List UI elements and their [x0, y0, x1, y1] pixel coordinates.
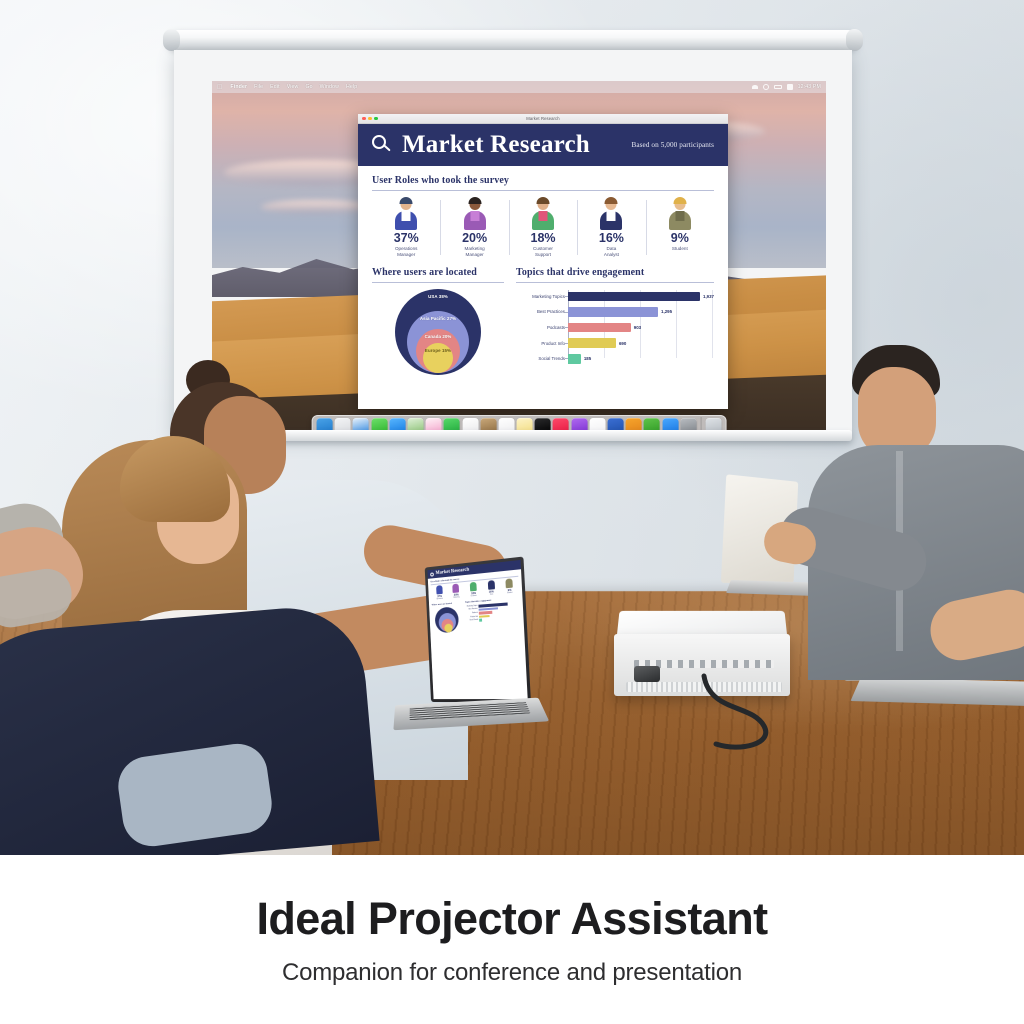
role-label: Student	[672, 246, 688, 252]
bar-category-label: Podcasts	[517, 325, 565, 330]
mirrored-slide: Market ResearchUser Roles who took the s…	[427, 560, 527, 699]
projector-lens	[634, 666, 660, 682]
role-label: CustomerSupport	[533, 246, 553, 258]
roles-row: 37%OperationsManager20%MarketingManager1…	[372, 197, 714, 258]
bar-category-label: Social Trends	[517, 356, 565, 361]
menubar-status-area: 12:43 PM	[752, 84, 821, 90]
bar-category-label: Best Practices	[517, 309, 565, 314]
avatar	[391, 197, 421, 230]
projector-cable	[700, 670, 820, 760]
battery-icon[interactable]	[774, 85, 782, 89]
role-percent: 37%	[394, 232, 419, 245]
screen-roller-bar	[168, 30, 858, 50]
role-card: 16%DataAnalyst	[577, 197, 645, 258]
bar-value-label: 903	[634, 325, 641, 330]
role-percent: 20%	[462, 232, 487, 245]
headline: Ideal Projector Assistant	[256, 893, 767, 945]
laptop-front[interactable]: Market ResearchUser Roles who took the s…	[395, 562, 530, 737]
topics-section-title: Topics that drive engagement	[516, 267, 714, 278]
menubar-item-view[interactable]: View	[287, 84, 299, 90]
location-divider	[372, 282, 504, 283]
wifi-icon[interactable]	[752, 85, 758, 89]
bar-category-label: Product Info	[517, 341, 565, 346]
location-panel: Where users are located USA 38% Asia Pac…	[372, 267, 504, 375]
search-icon[interactable]	[763, 84, 769, 90]
laptop-screen: Market ResearchUser Roles who took the s…	[425, 556, 531, 702]
slide-title: Market Research	[402, 131, 590, 159]
laptop-keyboard-base	[393, 698, 549, 731]
slide-body: User Roles who took the survey 37%Operat…	[358, 166, 728, 375]
role-label: OperationsManager	[395, 246, 417, 258]
role-card: 37%OperationsManager	[372, 197, 440, 258]
charts-row: Where users are located USA 38% Asia Pac…	[372, 267, 714, 375]
menubar-item-go[interactable]: Go	[305, 84, 312, 90]
bar-axis-tick	[565, 312, 568, 313]
role-label: MarketingManager	[465, 246, 485, 258]
bar-row: Marketing Topics1,937	[568, 290, 714, 303]
bar-axis-tick	[565, 358, 568, 359]
bar-fill	[568, 323, 631, 333]
roles-section-title: User Roles who took the survey	[372, 175, 714, 186]
bar-value-label: 185	[584, 356, 591, 361]
bar-value-label: 1,937	[703, 294, 714, 299]
bar-fill	[568, 307, 658, 317]
bar-chart: Marketing Topics1,937Best Practices1,295…	[516, 290, 714, 368]
role-percent: 18%	[531, 232, 556, 245]
menubar-item-edit[interactable]: Edit	[270, 84, 280, 90]
avatar	[460, 197, 490, 230]
role-card: 18%CustomerSupport	[509, 197, 577, 258]
topics-panel: Topics that drive engagement Market	[516, 267, 714, 375]
window-title: Market Research	[358, 116, 728, 121]
location-section-title: Where users are located	[372, 267, 504, 278]
menubar-item-window[interactable]: Window	[320, 84, 339, 90]
menubar-clock[interactable]: 12:43 PM	[798, 84, 821, 90]
topics-divider	[516, 282, 714, 283]
bar-category-label: Marketing Topics	[517, 294, 565, 299]
participants-note: Based on 5,000 participants	[631, 141, 714, 149]
bar-value-label: 1,295	[661, 309, 672, 314]
caption-block: Ideal Projector Assistant Companion for …	[0, 855, 1024, 1024]
person-man-navy-suit	[0, 500, 390, 855]
macos-menubar[interactable]:  Finder File Edit View Go Window Help 1…	[212, 81, 826, 93]
bar-value-label: 690	[619, 341, 626, 346]
role-card: 9%Student	[646, 197, 714, 258]
role-card: 20%MarketingManager	[440, 197, 508, 258]
subheadline: Companion for conference and presentatio…	[282, 959, 742, 987]
conference-room-photo:  Finder File Edit View Go Window Help 1…	[0, 0, 1024, 855]
bar-axis-tick	[565, 343, 568, 344]
role-percent: 9%	[671, 232, 689, 245]
bar-row: Podcasts903	[568, 321, 714, 334]
role-label: DataAnalyst	[604, 246, 619, 258]
roles-divider	[372, 190, 714, 191]
avatar	[528, 197, 558, 230]
bar-fill	[568, 292, 700, 302]
bar-axis-tick	[565, 296, 568, 297]
slide-header: Market Research Based on 5,000 participa…	[358, 124, 728, 166]
menubar-item-help[interactable]: Help	[346, 84, 357, 90]
bar-row: Product Info690	[568, 337, 714, 350]
avatar	[596, 197, 626, 230]
apple-menu-icon[interactable]: 	[217, 84, 222, 91]
magnifier-icon	[372, 135, 392, 155]
window-titlebar[interactable]: Market Research	[358, 114, 728, 124]
bar-fill	[568, 354, 581, 364]
bar-row: Social Trends185	[568, 352, 714, 365]
avatar	[665, 197, 695, 230]
menubar-item-finder[interactable]: Finder	[230, 84, 247, 90]
control-center-icon[interactable]	[787, 84, 793, 90]
role-percent: 16%	[599, 232, 624, 245]
bar-axis-tick	[565, 327, 568, 328]
menubar-item-file[interactable]: File	[254, 84, 263, 90]
bar-fill	[568, 338, 616, 348]
bar-row: Best Practices1,295	[568, 305, 714, 318]
